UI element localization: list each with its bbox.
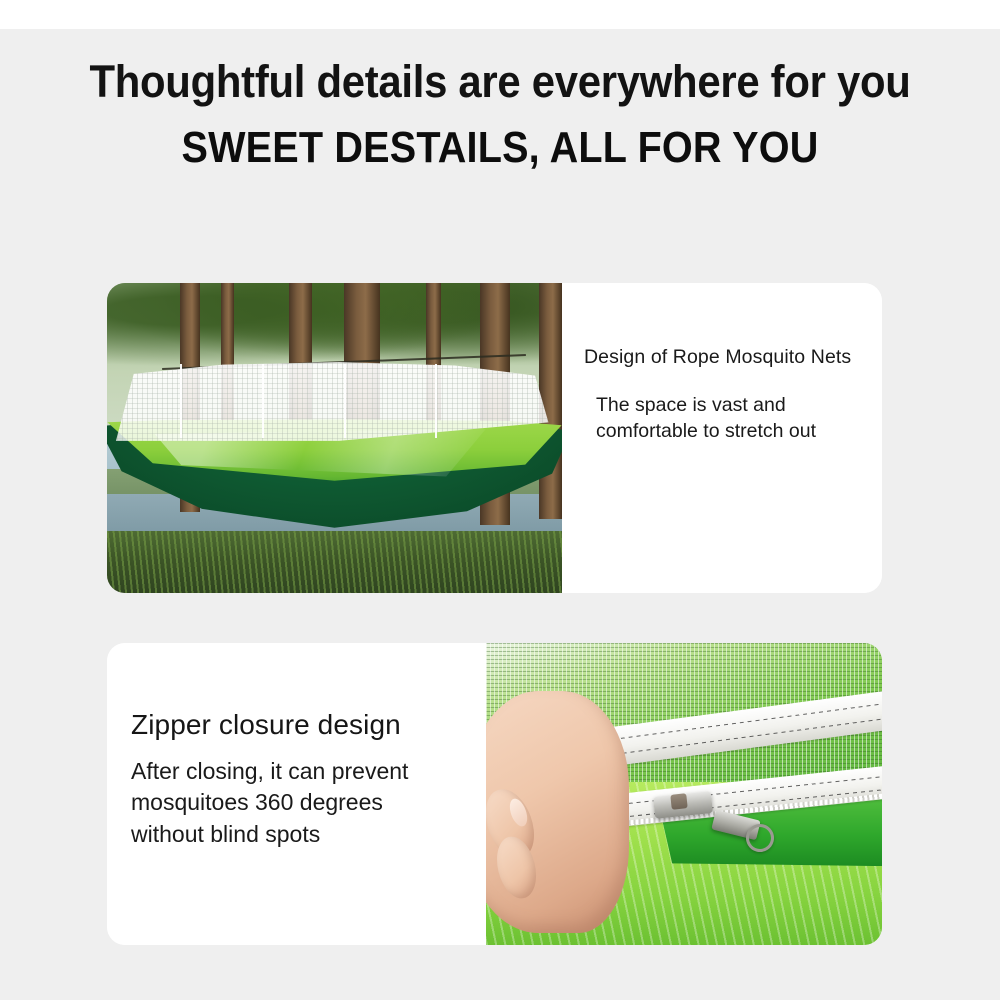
zipper-title: Zipper closure design xyxy=(131,707,486,742)
mosquito-nets-body: The space is vast and comfortable to str… xyxy=(584,392,882,444)
product-detail-page: Thoughtful details are everywhere for yo… xyxy=(0,0,1000,1000)
headline-line-2: SWEET DESTAILS, ALL FOR YOU xyxy=(50,125,950,172)
feature-card-mosquito-nets: Design of Rope Mosquito Nets The space i… xyxy=(107,283,882,593)
hammock-mosquito-net-photo xyxy=(107,283,562,593)
zipper-stop-tab xyxy=(670,793,687,810)
hand xyxy=(486,691,629,933)
zipper-body: After closing, it can prevent mosquitoes… xyxy=(131,756,486,850)
net-support-post xyxy=(344,364,346,438)
mosquito-nets-title: Design of Rope Mosquito Nets xyxy=(584,345,882,370)
headline-line-1: Thoughtful details are everywhere for yo… xyxy=(35,58,965,106)
zipper-body-line-2: mosquitoes 360 degrees xyxy=(131,787,486,818)
zipper-closeup-photo xyxy=(486,643,882,945)
zipper-text-panel: Zipper closure design After closing, it … xyxy=(107,643,486,945)
feature-card-zipper-closure: Zipper closure design After closing, it … xyxy=(107,643,882,945)
net-support-post xyxy=(180,364,182,438)
net-support-post xyxy=(262,364,264,438)
zipper-body-line-1: After closing, it can prevent xyxy=(131,756,486,787)
zipper-body-line-3: without blind spots xyxy=(131,819,486,850)
mosquito-nets-text-panel: Design of Rope Mosquito Nets The space i… xyxy=(562,283,882,593)
page-title: Thoughtful details are everywhere for yo… xyxy=(0,58,1000,171)
grass-foreground xyxy=(107,531,562,593)
net-support-post xyxy=(435,364,437,438)
